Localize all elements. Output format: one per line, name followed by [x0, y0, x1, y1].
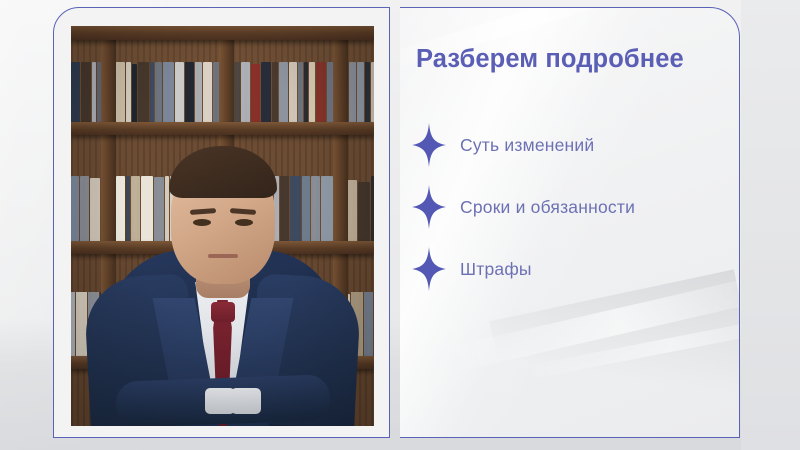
page-title: Разберем подробнее — [416, 45, 684, 74]
book-spine — [115, 62, 125, 124]
shelf-board — [71, 26, 374, 40]
book-spine — [203, 62, 212, 124]
book-spine — [371, 62, 374, 124]
book-spine — [365, 62, 370, 124]
list-item-label: Сроки и обязанности — [460, 197, 635, 218]
eye-right — [235, 219, 253, 226]
shirt-cuff — [231, 388, 261, 414]
right-gutter — [741, 0, 800, 450]
list-item: Штрафы — [412, 238, 732, 300]
eye-left — [193, 219, 211, 226]
book-spine — [261, 62, 271, 124]
book-spine — [357, 62, 364, 124]
book-spine — [132, 64, 137, 124]
sparkle-icon — [412, 247, 446, 291]
book-spine — [304, 62, 308, 124]
book-spine — [150, 62, 154, 124]
book-spine — [279, 62, 288, 124]
list-item: Суть изменений — [412, 114, 732, 176]
person-figure — [71, 166, 374, 426]
book-spine — [195, 62, 202, 124]
book-spine — [298, 62, 303, 124]
list-item-label: Суть изменений — [460, 135, 594, 156]
list-item-label: Штрафы — [460, 259, 532, 280]
content-panel: Разберем подробнее Суть изменений Сроки … — [400, 7, 740, 438]
book-spine — [251, 64, 260, 124]
book-spine — [163, 62, 174, 124]
necktie-knot — [211, 302, 235, 322]
book-spine — [138, 62, 149, 124]
photo-panel — [53, 7, 390, 438]
sparkle-icon — [412, 185, 446, 229]
list-item: Сроки и обязанности — [412, 176, 732, 238]
book-spine — [309, 62, 315, 124]
book-spine — [241, 62, 250, 124]
book-spine — [289, 62, 297, 124]
book-spine — [349, 62, 356, 124]
book-spine — [92, 62, 96, 124]
book-spine — [316, 62, 326, 124]
sparkle-icon — [412, 123, 446, 167]
speaker-photo — [71, 26, 374, 426]
light-streak — [521, 310, 740, 381]
book-spine — [71, 62, 80, 124]
slide-canvas: Разберем подробнее Суть изменений Сроки … — [0, 0, 800, 450]
shelf-board — [71, 122, 374, 135]
mouth — [208, 254, 238, 258]
book-spine — [175, 62, 184, 124]
book-spine — [185, 62, 194, 124]
book-spine — [272, 62, 278, 124]
book-spine — [81, 62, 91, 124]
bullet-list: Суть изменений Сроки и обязанности Штраф… — [412, 114, 732, 300]
book-spine — [126, 62, 131, 124]
book-spine — [155, 62, 162, 124]
